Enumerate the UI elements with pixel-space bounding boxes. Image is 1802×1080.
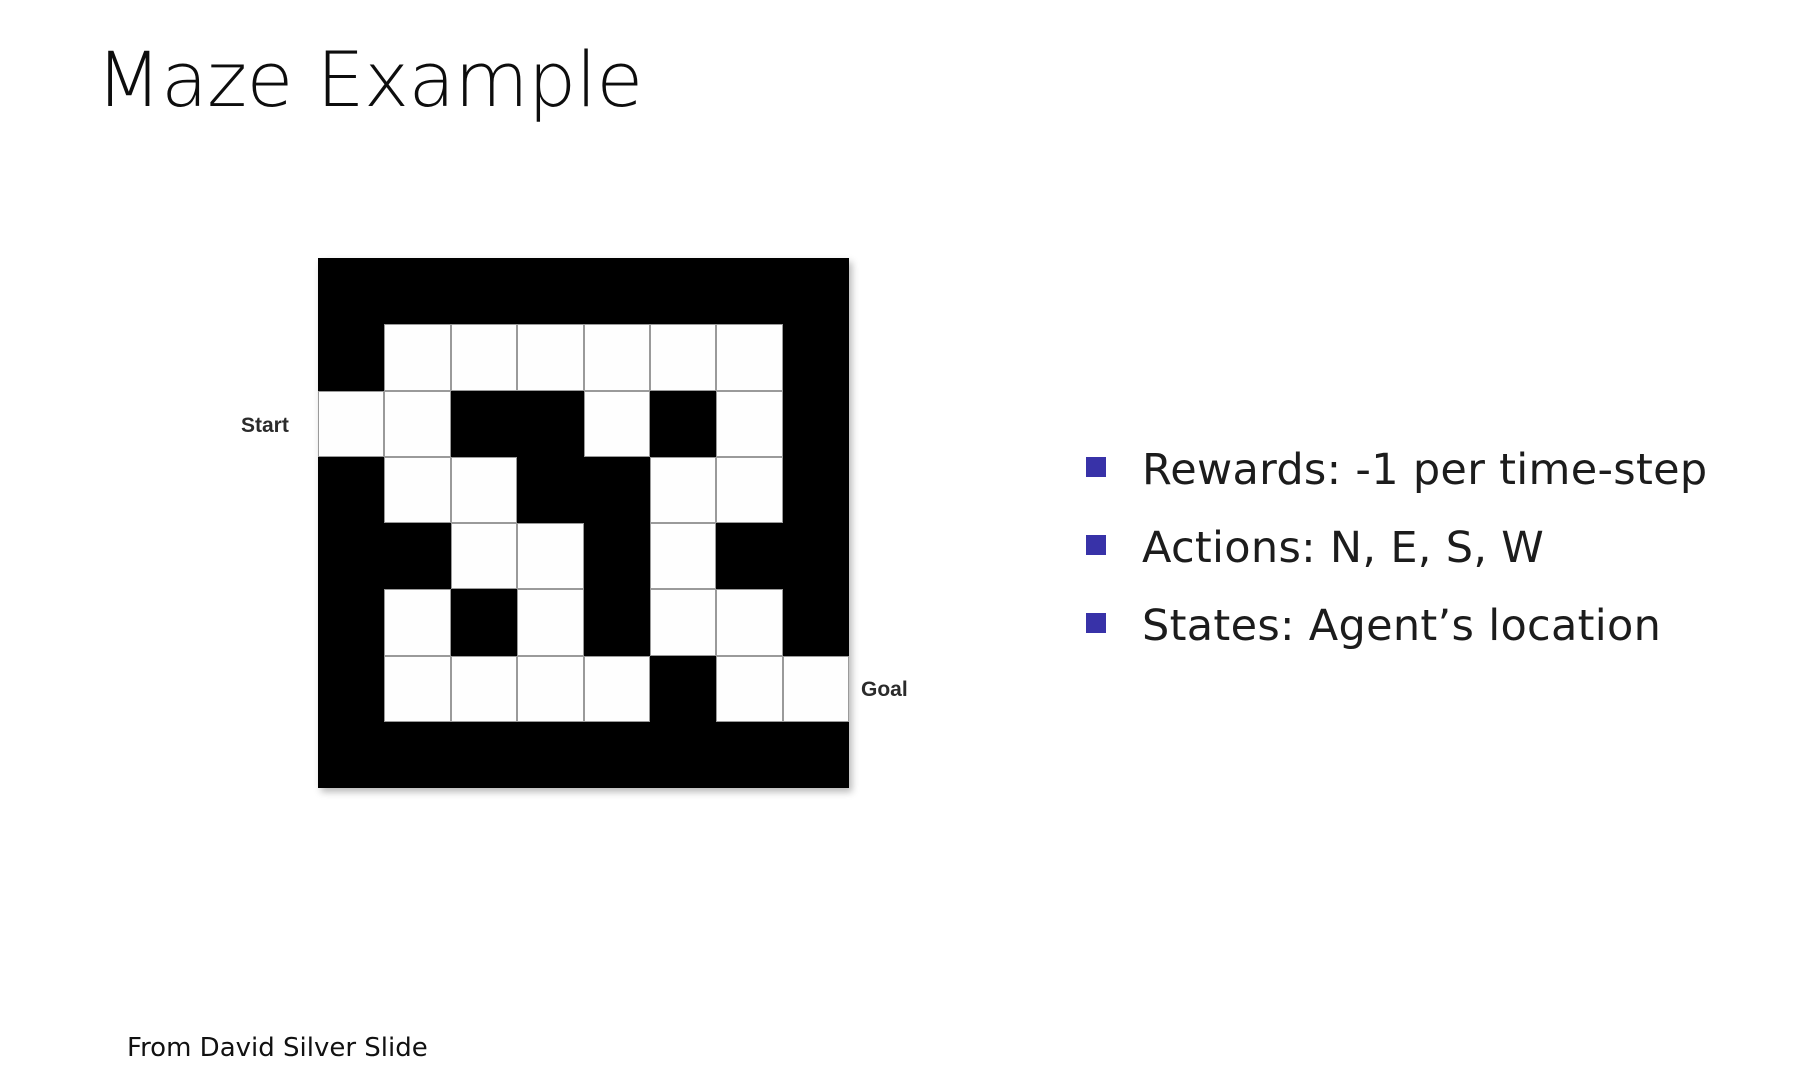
bullet-item-label: Rewards: -1 per time-step (1142, 448, 1708, 493)
maze-cell-2-3 (517, 391, 583, 457)
maze-cell-1-1 (384, 324, 450, 390)
maze-goal-label: Goal (861, 678, 908, 702)
maze-figure: Start Goal (318, 258, 849, 788)
maze-cell-2-7 (783, 391, 849, 457)
maze-cell-1-7 (783, 324, 849, 390)
bullet-item-3: States: Agent’s location (1086, 604, 1766, 649)
maze-cell-6-5 (650, 656, 716, 722)
maze-cell-0-0 (318, 258, 384, 324)
bullet-item-label: States: Agent’s location (1142, 604, 1661, 649)
page-title: Maze Example (96, 38, 643, 122)
maze-grid (318, 258, 849, 788)
maze-cell-1-2 (451, 324, 517, 390)
square-bullet-icon (1086, 535, 1106, 555)
maze-cell-3-7 (783, 457, 849, 523)
bullet-item-label: Actions: N, E, S, W (1142, 526, 1544, 571)
maze-cell-5-6 (716, 589, 782, 655)
maze-cell-1-5 (650, 324, 716, 390)
maze-cell-5-5 (650, 589, 716, 655)
maze-cell-goal (783, 656, 849, 722)
maze-cell-4-2 (451, 523, 517, 589)
maze-cell-6-0 (318, 656, 384, 722)
maze-cell-0-4 (584, 258, 650, 324)
maze-cell-4-4 (584, 523, 650, 589)
maze-cell-6-3 (517, 656, 583, 722)
maze-cell-5-2 (451, 589, 517, 655)
maze-cell-0-6 (716, 258, 782, 324)
maze-cell-6-2 (451, 656, 517, 722)
maze-cell-2-6 (716, 391, 782, 457)
maze-cell-4-0 (318, 523, 384, 589)
maze-cell-3-3 (517, 457, 583, 523)
maze-cell-7-6 (716, 722, 782, 788)
maze-cell-4-6 (716, 523, 782, 589)
maze-cell-7-7 (783, 722, 849, 788)
maze-cell-7-2 (451, 722, 517, 788)
maze-cell-1-6 (716, 324, 782, 390)
maze-cell-4-1 (384, 523, 450, 589)
maze-cell-2-1 (384, 391, 450, 457)
maze-cell-0-5 (650, 258, 716, 324)
maze-cell-5-4 (584, 589, 650, 655)
maze-cell-7-5 (650, 722, 716, 788)
maze-cell-3-6 (716, 457, 782, 523)
maze-cell-7-0 (318, 722, 384, 788)
maze-cell-1-3 (517, 324, 583, 390)
maze-cell-5-7 (783, 589, 849, 655)
maze-cell-1-0 (318, 324, 384, 390)
bullet-list: Rewards: -1 per time-stepActions: N, E, … (1086, 448, 1766, 649)
maze-cell-3-0 (318, 457, 384, 523)
maze-cell-0-7 (783, 258, 849, 324)
maze-cell-3-2 (451, 457, 517, 523)
bullet-item-1: Rewards: -1 per time-step (1086, 448, 1766, 493)
maze-cell-0-2 (451, 258, 517, 324)
bullet-item-2: Actions: N, E, S, W (1086, 526, 1766, 571)
maze-cell-5-0 (318, 589, 384, 655)
square-bullet-icon (1086, 613, 1106, 633)
maze-cell-6-4 (584, 656, 650, 722)
maze-cell-5-3 (517, 589, 583, 655)
maze-cell-3-1 (384, 457, 450, 523)
square-bullet-icon (1086, 457, 1106, 477)
maze-cell-2-2 (451, 391, 517, 457)
maze-cell-5-1 (384, 589, 450, 655)
maze-start-label: Start (241, 414, 289, 438)
maze-cell-4-5 (650, 523, 716, 589)
slide-footer-attribution: From David Silver Slide (127, 1033, 428, 1063)
maze-cell-2-5 (650, 391, 716, 457)
maze-cell-4-7 (783, 523, 849, 589)
maze-cell-0-3 (517, 258, 583, 324)
maze-cell-3-4 (584, 457, 650, 523)
maze-cell-0-1 (384, 258, 450, 324)
maze-cell-1-4 (584, 324, 650, 390)
maze-cell-2-4 (584, 391, 650, 457)
maze-cell-7-1 (384, 722, 450, 788)
maze-cell-3-5 (650, 457, 716, 523)
maze-cell-start (318, 391, 384, 457)
maze-cell-6-6 (716, 656, 782, 722)
maze-cell-7-4 (584, 722, 650, 788)
maze-cell-7-3 (517, 722, 583, 788)
maze-cell-6-1 (384, 656, 450, 722)
maze-cell-4-3 (517, 523, 583, 589)
